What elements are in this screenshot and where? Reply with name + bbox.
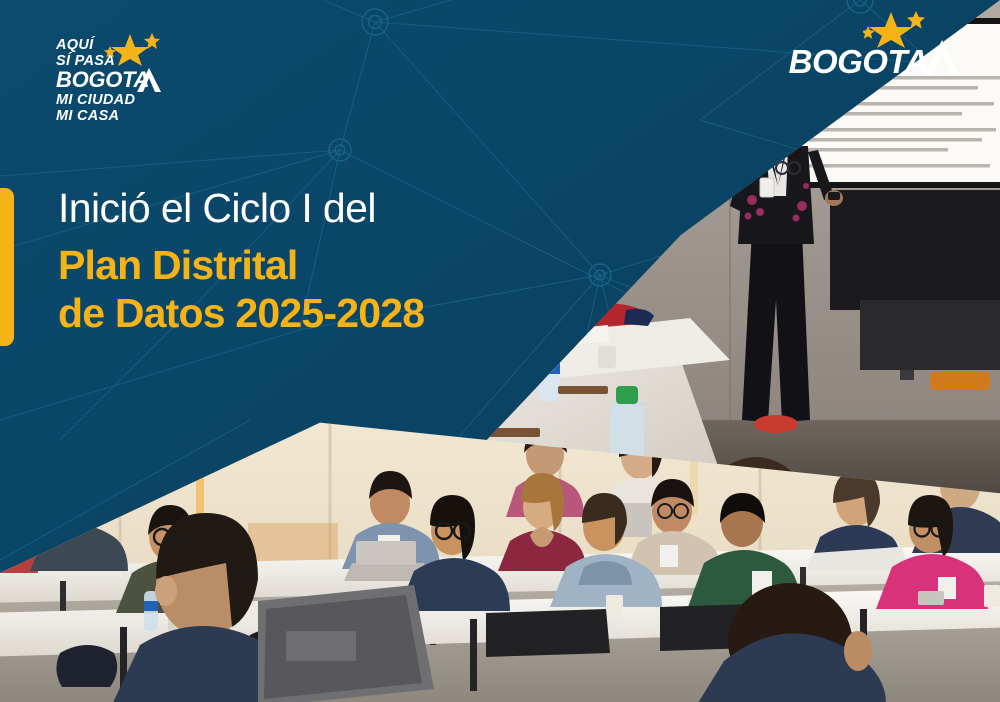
bogota-a-mark-icon (136, 67, 162, 93)
bogota-wordmark: BOGOTA (789, 45, 928, 78)
logo-line-5: MI CASA (56, 108, 149, 124)
stars-icon (104, 32, 160, 66)
bogota-logo: BOGOTA (789, 38, 962, 78)
bogota-a-mark-icon (922, 38, 962, 78)
headline-line-2: Plan Distrital (58, 241, 424, 289)
page-title: Inició el Ciclo I del Plan Distrital de … (58, 183, 424, 338)
aqui-si-pasa-bogota-logo: AQUÍ SÍ PASA BOGOTA MI CIUDAD MI CASA (56, 38, 149, 124)
banner-canvas: ¿Qué es? (0, 0, 1000, 702)
stars-icon (863, 10, 925, 48)
headline-line-1: Inició el Ciclo I del (58, 183, 424, 233)
logo-line-4: MI CIUDAD (56, 92, 149, 108)
yellow-accent-bar (0, 188, 14, 346)
headline-line-3: de Datos 2025-2028 (58, 289, 424, 337)
